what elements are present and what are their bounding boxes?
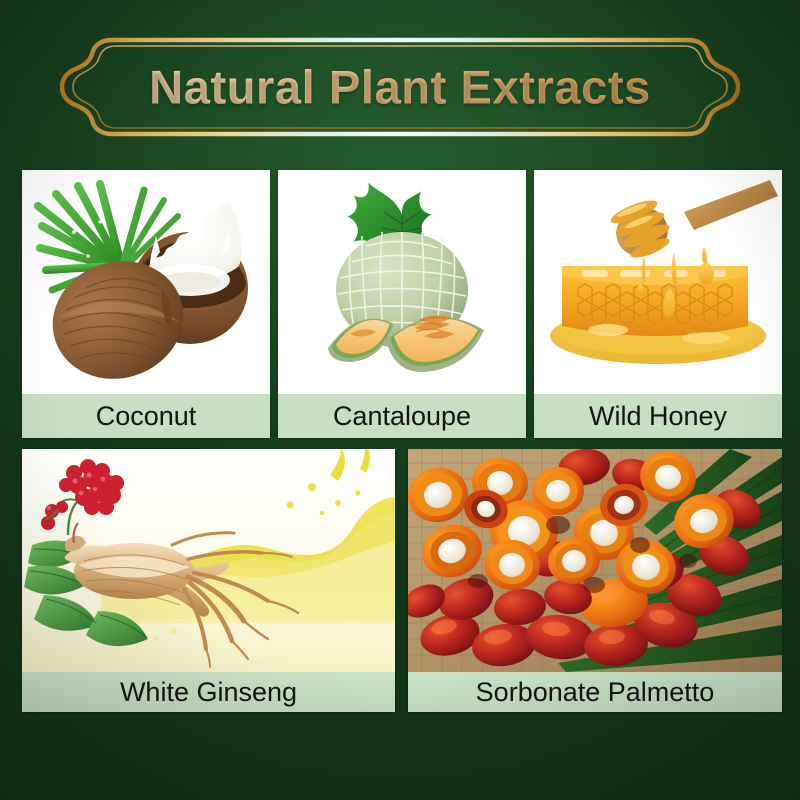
product-card-palmetto[interactable]: Sorbonate Palmetto bbox=[408, 449, 782, 712]
card-caption-cantaloupe: Cantaloupe bbox=[278, 394, 526, 438]
card-caption-palmetto: Sorbonate Palmetto bbox=[408, 672, 782, 712]
wild-honey-photo bbox=[534, 170, 782, 394]
cantaloupe-illustration-icon bbox=[278, 170, 526, 394]
product-card-honey[interactable]: Wild Honey bbox=[534, 170, 782, 438]
header-banner: Natural Plant Extracts bbox=[60, 34, 740, 140]
white-ginseng-illustration-icon bbox=[22, 449, 395, 672]
card-label-ginseng: White Ginseng bbox=[120, 677, 297, 708]
poster-root: Natural Plant Extracts bbox=[0, 0, 800, 800]
product-card-cantaloupe[interactable]: Cantaloupe bbox=[278, 170, 526, 438]
coconut-photo bbox=[22, 170, 270, 394]
card-label-honey: Wild Honey bbox=[589, 401, 727, 432]
card-label-palmetto: Sorbonate Palmetto bbox=[476, 677, 715, 708]
card-caption-honey: Wild Honey bbox=[534, 394, 782, 438]
coconut-illustration-icon bbox=[22, 170, 270, 394]
sorbonate-palmetto-photo bbox=[408, 449, 782, 672]
card-label-coconut: Coconut bbox=[96, 401, 197, 432]
page-title: Natural Plant Extracts bbox=[60, 64, 740, 111]
wild-honey-illustration-icon bbox=[534, 170, 782, 394]
card-label-cantaloupe: Cantaloupe bbox=[333, 401, 471, 432]
cantaloupe-photo bbox=[278, 170, 526, 394]
palm-fruit-illustration-icon bbox=[408, 449, 782, 672]
product-card-coconut[interactable]: Coconut bbox=[22, 170, 270, 438]
white-ginseng-illustration bbox=[22, 449, 395, 672]
card-caption-coconut: Coconut bbox=[22, 394, 270, 438]
product-card-ginseng[interactable]: White Ginseng bbox=[22, 449, 395, 712]
card-caption-ginseng: White Ginseng bbox=[22, 672, 395, 712]
